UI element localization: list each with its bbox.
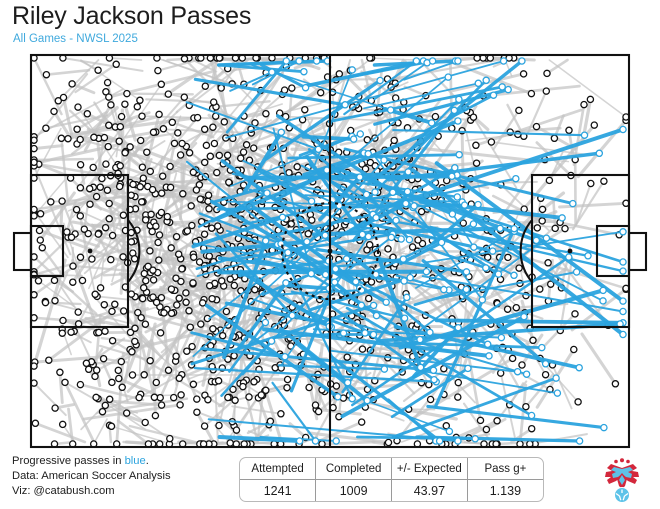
page-subtitle: All Games - NWSL 2025 [13,32,652,46]
viz-credit: Viz: @catabush.com [12,484,237,499]
stats-value-row: 1241 1009 43.97 1.139 [240,480,543,503]
legend-suffix: . [146,455,149,467]
stats-header-row: Attempted Completed +/- Expected Pass g+ [240,458,543,480]
crest-wings [605,464,639,489]
crest-stars [614,458,630,463]
data-credit: Data: American Soccer Analysis [12,469,237,484]
crest-soccer-ball [615,488,630,503]
legend-note: Progressive passes in blue. [12,454,237,469]
pitch-container [0,50,660,452]
pass-map-svg [0,50,660,452]
center-spot [328,249,333,254]
page-title: Riley Jackson Passes [12,2,652,31]
footer-notes: Progressive passes in blue. Data: Americ… [12,454,237,500]
eagle-crest-logo [598,456,646,504]
stats-value-attempted: 1241 [240,480,316,503]
legend-blue-word: blue [125,455,146,467]
stats-col-completed: Completed [316,458,392,480]
stats-value-completed: 1009 [316,480,392,503]
left-penalty-spot [88,249,93,254]
legend-prefix: Progressive passes in [12,455,125,467]
stats-col-attempted: Attempted [240,458,316,480]
stats-col-pass-gplus: Pass g+ [467,458,543,480]
stats-col-plus-minus-expected: +/- Expected [392,458,468,480]
stats-value-plus-minus-expected: 43.97 [392,480,468,503]
pass-map-figure: Riley Jackson Passes All Games - NWSL 20… [0,0,660,508]
figure-header: Riley Jackson Passes All Games - NWSL 20… [12,2,652,46]
stats-table: Attempted Completed +/- Expected Pass g+… [239,457,544,502]
right-penalty-spot [568,249,573,254]
stats-value-pass-gplus: 1.139 [467,480,543,503]
eagle-crest-icon [598,456,646,504]
